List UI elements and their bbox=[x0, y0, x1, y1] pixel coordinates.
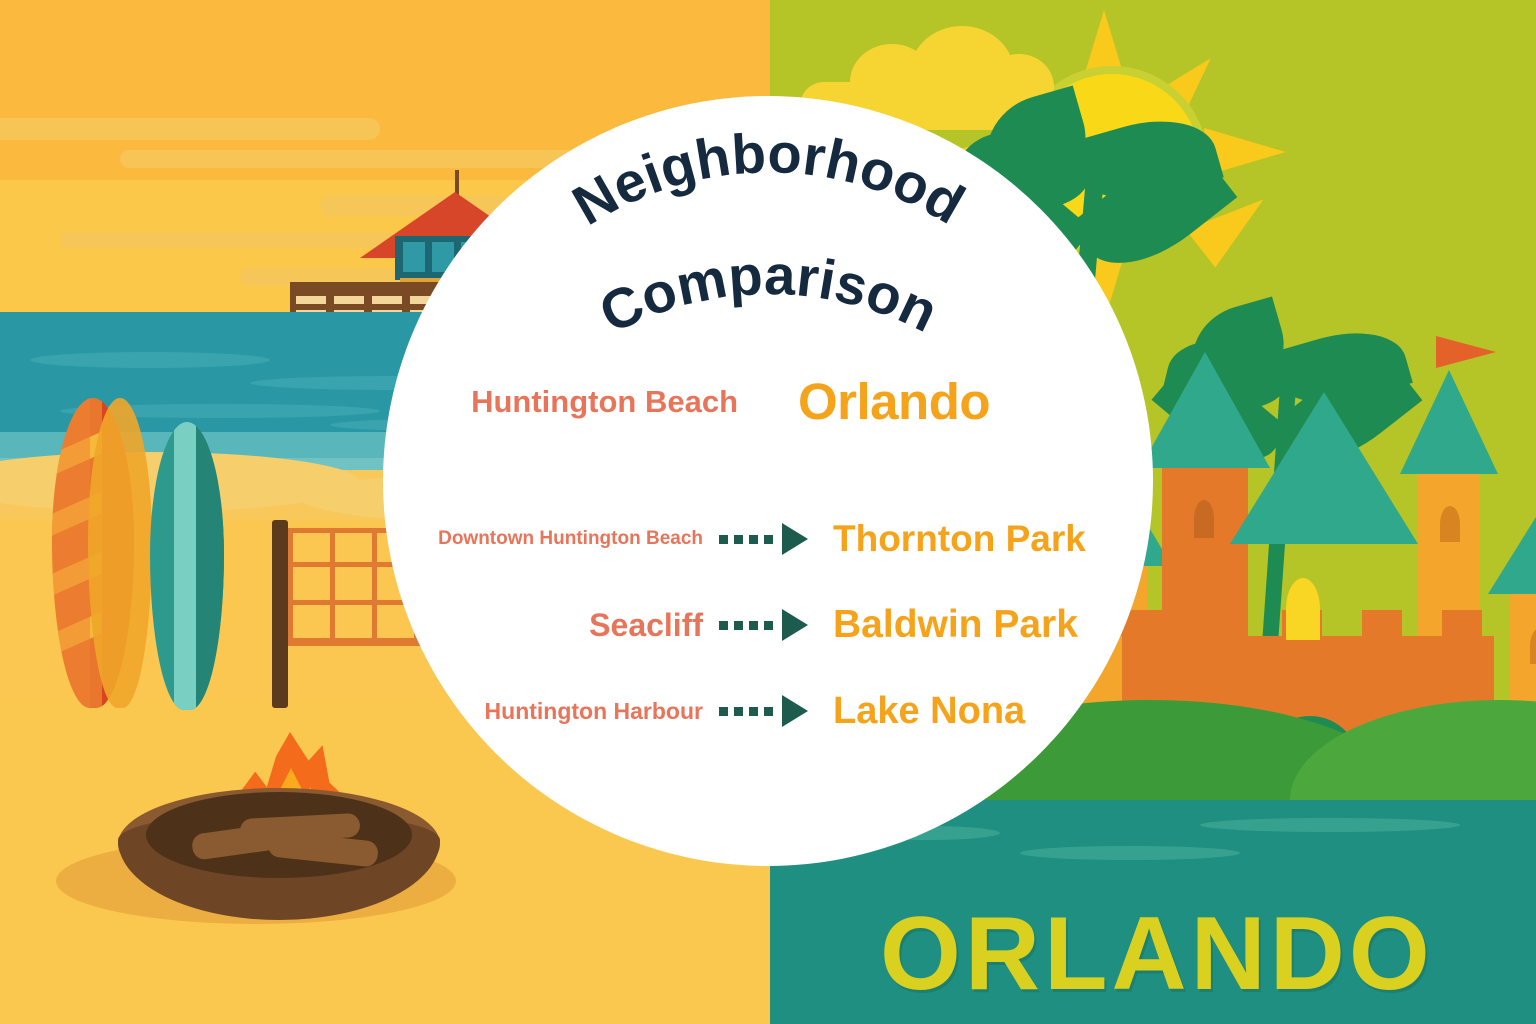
row-right-neighborhood: Thornton Park bbox=[827, 518, 1123, 560]
square-dot-icon bbox=[719, 707, 728, 716]
square-dot-icon bbox=[719, 535, 728, 544]
square-dot-icon bbox=[749, 535, 758, 544]
cloud-streak-icon bbox=[0, 118, 380, 140]
square-dot-icon bbox=[749, 707, 758, 716]
comparison-row: Downtown Huntington Beach Thornton Park bbox=[383, 496, 1153, 582]
row-left-neighborhood: Downtown Huntington Beach bbox=[413, 528, 719, 550]
header-right-city: Orlando bbox=[798, 372, 1128, 431]
comparison-card: Neighborhood Comparison Huntington Beach… bbox=[383, 96, 1153, 866]
row-connector bbox=[719, 609, 827, 641]
row-left-neighborhood: Huntington Harbour bbox=[413, 698, 719, 725]
square-dot-icon bbox=[734, 535, 743, 544]
square-dot-icon bbox=[734, 621, 743, 630]
row-connector bbox=[719, 695, 827, 727]
page-title: Neighborhood Comparison bbox=[383, 130, 1153, 360]
row-connector bbox=[719, 523, 827, 555]
row-right-neighborhood: Lake Nona bbox=[827, 690, 1123, 733]
triangle-arrow-right-icon bbox=[782, 523, 808, 555]
square-dot-icon bbox=[749, 621, 758, 630]
city-header-row: Huntington Beach Orlando bbox=[383, 372, 1153, 431]
comparison-rows: Downtown Huntington Beach Thornton Park … bbox=[383, 496, 1153, 754]
row-right-neighborhood: Baldwin Park bbox=[827, 603, 1123, 647]
square-dot-icon bbox=[764, 621, 773, 630]
triangle-arrow-right-icon bbox=[782, 695, 808, 727]
triangle-arrow-right-icon bbox=[782, 609, 808, 641]
square-dot-icon bbox=[734, 707, 743, 716]
row-left-neighborhood: Seacliff bbox=[413, 607, 719, 644]
header-left-city: Huntington Beach bbox=[408, 384, 752, 420]
comparison-row: Huntington Harbour Lake Nona bbox=[383, 668, 1153, 754]
title-line-2: Comparison bbox=[590, 243, 948, 345]
neighborhood-comparison-poster: ORLANDO Neighborhood Comparison Huntingt… bbox=[0, 0, 1536, 1024]
square-dot-icon bbox=[764, 535, 773, 544]
comparison-row: Seacliff Baldwin Park bbox=[383, 582, 1153, 668]
square-dot-icon bbox=[764, 707, 773, 716]
title-line-1: Neighborhood bbox=[562, 130, 975, 237]
orlando-badge: ORLANDO bbox=[880, 902, 1434, 1006]
square-dot-icon bbox=[719, 621, 728, 630]
